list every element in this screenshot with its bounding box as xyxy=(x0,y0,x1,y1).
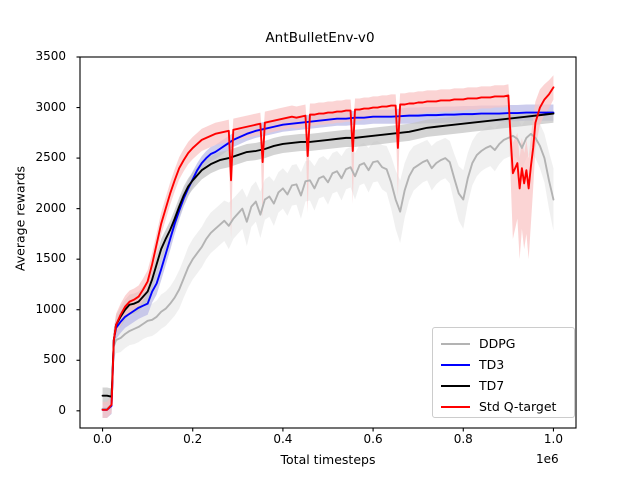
legend-swatch-line-icon xyxy=(441,364,470,366)
legend-swatch-line-icon xyxy=(441,406,470,408)
legend-label: TD3 xyxy=(479,357,504,372)
legend-swatch-line-icon xyxy=(441,385,470,387)
legend-label: DDPG xyxy=(479,336,515,351)
legend-item-ddpg[interactable]: DDPG xyxy=(433,333,574,354)
legend-item-std-q-target[interactable]: Std Q-target xyxy=(433,396,574,417)
legend-item-td7[interactable]: TD7 xyxy=(433,375,574,396)
matplotlib-figure: AntBulletEnv-v0 Average rewards Total ti… xyxy=(0,0,640,480)
legend-item-td3[interactable]: TD3 xyxy=(433,354,574,375)
legend-swatch-line-icon xyxy=(441,343,470,345)
legend-box[interactable]: DDPGTD3TD7Std Q-target xyxy=(432,327,575,418)
legend-label: TD7 xyxy=(479,378,504,393)
legend-label: Std Q-target xyxy=(479,399,556,414)
